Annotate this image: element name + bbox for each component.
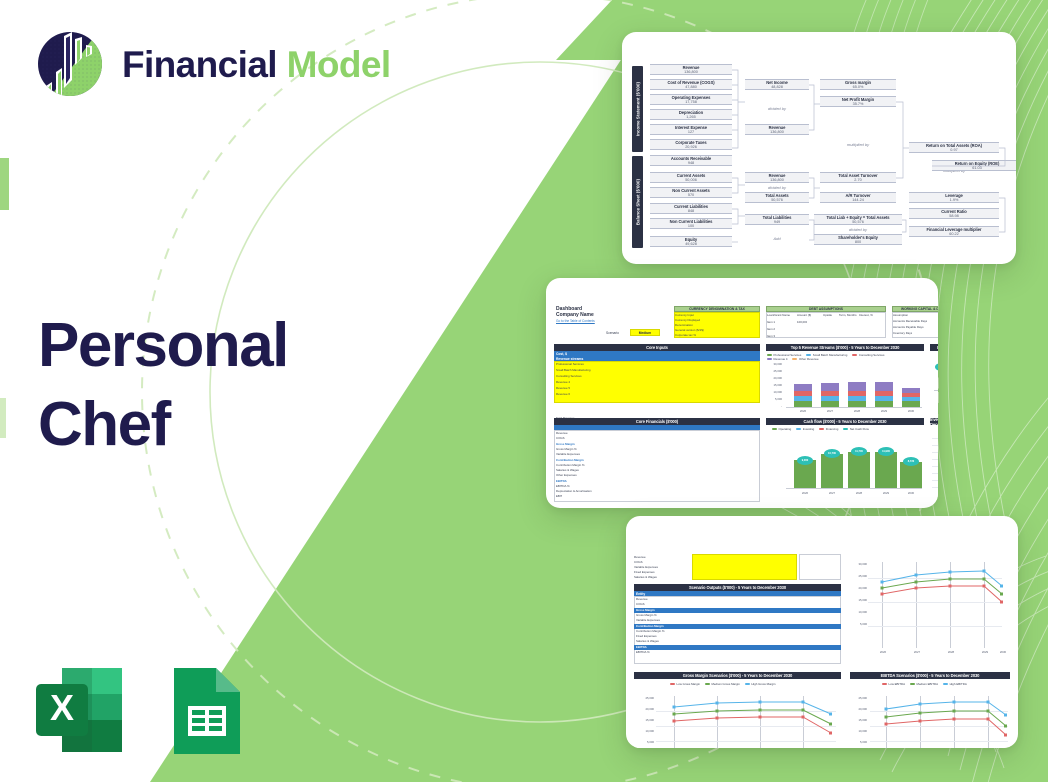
rs-xtick-4: 2030 [994,650,1012,654]
rs-xtick-3: 2029 [976,650,994,654]
gm-ylab-2: 10,000 [636,729,654,733]
ci-row-3: Revenue 4 [556,380,570,384]
pb-xtick-0: 2026 [935,492,938,496]
sc-toprow-1: COGS [634,560,643,564]
brand-logo: Financial Model [34,28,391,100]
rs-ylab-2: 10,000 [856,610,867,614]
cf-row-7: Salaries & Wages [556,468,579,472]
sc-row-7: Fixed Expenses [636,634,657,638]
cf-xtick-2: 2028 [848,491,870,495]
core-inputs-revenue-header: Revenue streams [556,357,583,361]
svg-text:X: X [50,687,74,728]
debt-row-0-amount: 100,000 [797,320,807,324]
dupont-diagram: Income Statement ($'000) Balance Sheet (… [632,56,1006,248]
cf-row-5: Contribution Margin [556,458,584,462]
rev-xtick-1: 2027 [821,409,839,413]
ci-row-1: Small Batch Manufacturing [556,368,591,372]
rs-ylab-4: 20,000 [856,586,867,590]
cf-row-3: Gross Margin % [556,447,577,451]
legend-rev-4: Other Revenue [799,357,819,361]
chart-revenue-streams[interactable]: 30,000 25,000 20,000 15,000 10,000 5,000… [766,362,924,414]
scenario-table-body[interactable] [634,596,841,664]
core-financials-title: Core Financials ($'000) [554,418,760,425]
ci-row-2: Consulting Services [556,374,582,378]
excel-icon[interactable]: X [30,662,128,760]
debt-header-1: Amount ($) [797,313,811,317]
rs-ylab-5: 25,000 [856,574,867,578]
sc-toprow-4: Salaries & Wages [634,575,657,579]
scenario-pct-cells[interactable] [692,554,797,580]
cf-row-11: Depreciation & Amortisation [556,489,592,493]
rev-ylab-6: 30,000 [766,362,782,366]
currency-row-1-label: Currency Displayed [675,318,700,322]
brand-name: Financial Model [122,46,391,83]
sc-row-9-dup: EBITDA [636,645,647,649]
scenario-table-header-0: Entity [636,592,645,596]
legend-eb-1: Medium EBITDA [917,682,939,686]
sc-row-8: Salaries & Wages [636,639,659,643]
debt-header-3: Term, Months [839,313,857,317]
chart-ebitda-scenarios[interactable]: 25,000 20,000 15,000 10,000 5,000 2026 2… [850,690,1010,748]
cf-row-6: Contribution Margin % [556,463,585,467]
dashboard-toc-link[interactable]: Go to the Table of Contents [556,319,666,323]
core-inputs-title: Core Inputs [554,344,760,351]
legend-gm-1: Medium Gross Margin [711,682,739,686]
rs-xtick-0: 2026 [874,650,892,654]
rev-xtick-2: 2028 [848,409,866,413]
cf-row-9: EBITDA [556,479,567,483]
wc-row-1: Accounts Payable Days [893,325,924,329]
rev-xtick-0: 2026 [794,409,812,413]
format-icon-row: X [30,662,252,760]
sc-row-4: Variable Expenses [636,618,660,622]
debt-row-2-name: Item 3 [767,334,775,338]
legend-eb-0: Low EBITDA [889,682,906,686]
chart-title-ebitda-scenarios: EBITDA Scenarios ($'000) - 5 Years to De… [850,672,1010,679]
eb-ylab-2: 10,000 [850,729,867,733]
chart-title-revenue-streams: Top 5 Revenue Streams ($'000) - 5 Years … [766,344,924,351]
gm-ylab-1: 5,000 [636,740,654,744]
chart-title-gross-margin-scenarios: Gross Margin Scenarios ($'000) - 5 Years… [634,672,841,679]
sc-row-1: COGS [636,602,645,606]
brand-name-part2: Model [287,44,391,85]
cf-marker-1: 10,700 [824,449,840,458]
debt-row-0-name: Item 1 [767,320,775,324]
currency-row-0-label: Currency Input [675,313,694,317]
eb-ylab-3: 15,000 [850,718,867,722]
core-inputs-cost-header: Cost, $ [556,352,567,356]
rs-xtick-2: 2028 [942,650,960,654]
currency-row-3-label: General version ($/1$) [675,328,704,332]
ci-row-4: Revenue 5 [556,386,570,390]
rs-ylab-6: 30,000 [856,562,867,566]
chart-title-cashflow: Cash flow ($'000) - 5 Years to December … [766,418,924,425]
page-title: Personal Chef [38,306,288,465]
rs-ylab-1: 5,000 [856,622,867,626]
rev-ylab-2: 10,000 [766,390,782,394]
legend-cf-1: Investing [803,427,815,431]
sc-row-2-dup: Gross Margin [636,608,655,612]
cf-xtick-1: 2027 [821,491,843,495]
chart-gross-margin-scenarios[interactable]: 25,000 20,000 15,000 10,000 5,000 2026 2… [634,690,841,748]
gm-ylab-3: 15,000 [636,718,654,722]
cf-row-12: EBIT [556,494,562,498]
cf-xtick-0: 2026 [794,491,816,495]
chart-title-payback: Investment Payback Chart ($'000) - 5 Yea… [930,418,938,425]
dashboard-company-name: Company Name [556,312,666,318]
rev-ylab-4: 20,000 [766,376,782,380]
ci-row-0: Professional Services [556,362,584,366]
legend-eb-2: High EBITDA [950,682,967,686]
dashboard-card[interactable]: Dashboard Company Name Go to the Table o… [546,278,938,508]
cf-marker-3: 11,900 [878,447,894,456]
rs-ylab-3: 15,000 [856,598,867,602]
chart-profitability[interactable]: 44.1% 45.0% 45.6% 45.6% 44.8% 2026 2027 … [930,360,938,414]
debt-row-1-name: Item 2 [767,327,775,331]
cf-xtick-4: 2030 [900,491,922,495]
gm-ylab-4: 20,000 [636,707,654,711]
rs-xtick-1: 2027 [908,650,926,654]
google-sheets-icon[interactable] [154,662,252,760]
rev-xtick-3: 2029 [875,409,893,413]
cf-xtick-3: 2029 [875,491,897,495]
cf-row-10: EBITDA % [556,484,570,488]
wc-row-0: Accounts Receivable Days [893,319,927,323]
left-content-panel: Financial Model Personal Chef X [0,0,470,782]
pie-bar-chart-logo-icon [34,28,106,100]
sc-row-6: Contribution Margin % [636,629,665,633]
cf-row-4: Variable Expenses [556,452,580,456]
chart-payback[interactable]: 70,000 60,000 50,000 40,000 30,000 20,00… [930,432,938,500]
legend-cf-0: Operating [779,427,792,431]
legend-rev-3: Revenue 4 [774,357,788,361]
cf-row-0: Revenue [556,431,568,435]
cf-row-2: Gross Margin [556,442,575,446]
legend-cf-2: Financing [826,427,839,431]
debt-header-0: Loan/Grant Name [767,313,790,317]
profit-marker-0: 44.1% [935,363,938,371]
scenario-outputs-title: Scenario Outputs ($'000) - 5 Years to De… [634,584,841,591]
page-title-line-2: Chef [38,385,288,464]
sc-row-0: Revenue [636,597,648,601]
sc-toprow-3: Fixed Expenses [634,570,655,574]
gm-ylab-5: 25,000 [636,696,654,700]
rev-ylab-1: 5,000 [766,397,782,401]
eb-ylab-4: 20,000 [850,707,867,711]
wc-header-0: Assumption [893,313,908,317]
page-title-line-1: Personal [38,306,288,385]
legend-rev-2: Consulting Services [859,353,885,357]
sc-row-5-dup: Contribution Margin [636,624,664,628]
cf-marker-4: 8,720 [903,457,919,466]
currency-row-4-label: Corporate tax % [675,333,696,337]
scenario-label: Scenario [606,331,619,335]
scenarios-card[interactable]: Revenue COGS Variable Expenses Fixed Exp… [626,516,1018,748]
legend-cf-3: Net Cash Flow [850,427,869,431]
rev-ylab-0: - [766,404,782,408]
sc-toprow-0: Revenue [634,555,646,559]
cf-row-8: Other Expenses [556,473,577,477]
legend-gm-2: High Gross Margin [751,682,775,686]
wc-row-2: Inventory Days [893,331,912,335]
debt-header-2: Upside [823,313,832,317]
rev-ylab-5: 25,000 [766,369,782,373]
rev-xtick-4: 2030 [902,409,920,413]
slide-canvas: Financial Model Personal Chef X [0,0,1048,782]
brand-name-part1: Financial [122,44,277,85]
scenario-actual-cells[interactable] [799,554,841,580]
chart-title-profitability: Profitability ($'000) - 5 Years to Decem… [930,344,938,351]
cf-row-1: COGS [556,436,565,440]
chart-cashflow[interactable]: 9,060 10,700 11,700 11,900 8,720 2026 20… [766,432,924,500]
dupont-analysis-card[interactable]: Income Statement ($'000) Balance Sheet (… [622,32,1016,264]
rev-ylab-3: 15,000 [766,383,782,387]
legend-gm-0: Low Gross Margin [677,682,700,686]
sc-row-3: Gross Margin % [636,613,657,617]
ci-row-5: Revenue 6 [556,392,570,396]
prof-xtick-0: 2026 [936,406,938,410]
cf-marker-0: 9,060 [797,456,813,465]
currency-row-2-label: Denomination [675,323,693,327]
debt-header-4: Interest, % [859,313,873,317]
sc-toprow-2: Variable Expenses [634,565,658,569]
eb-ylab-5: 25,000 [850,696,867,700]
dupont-connectors [632,56,1006,248]
sc-row-10: EBITDA % [636,650,650,654]
cf-marker-2: 11,700 [851,447,867,456]
eb-ylab-1: 5,000 [850,740,867,744]
chart-revenue-scenarios[interactable]: 30,000 25,000 20,000 15,000 10,000 5,000… [856,558,1008,658]
scenario-value[interactable]: Medium [639,331,651,335]
